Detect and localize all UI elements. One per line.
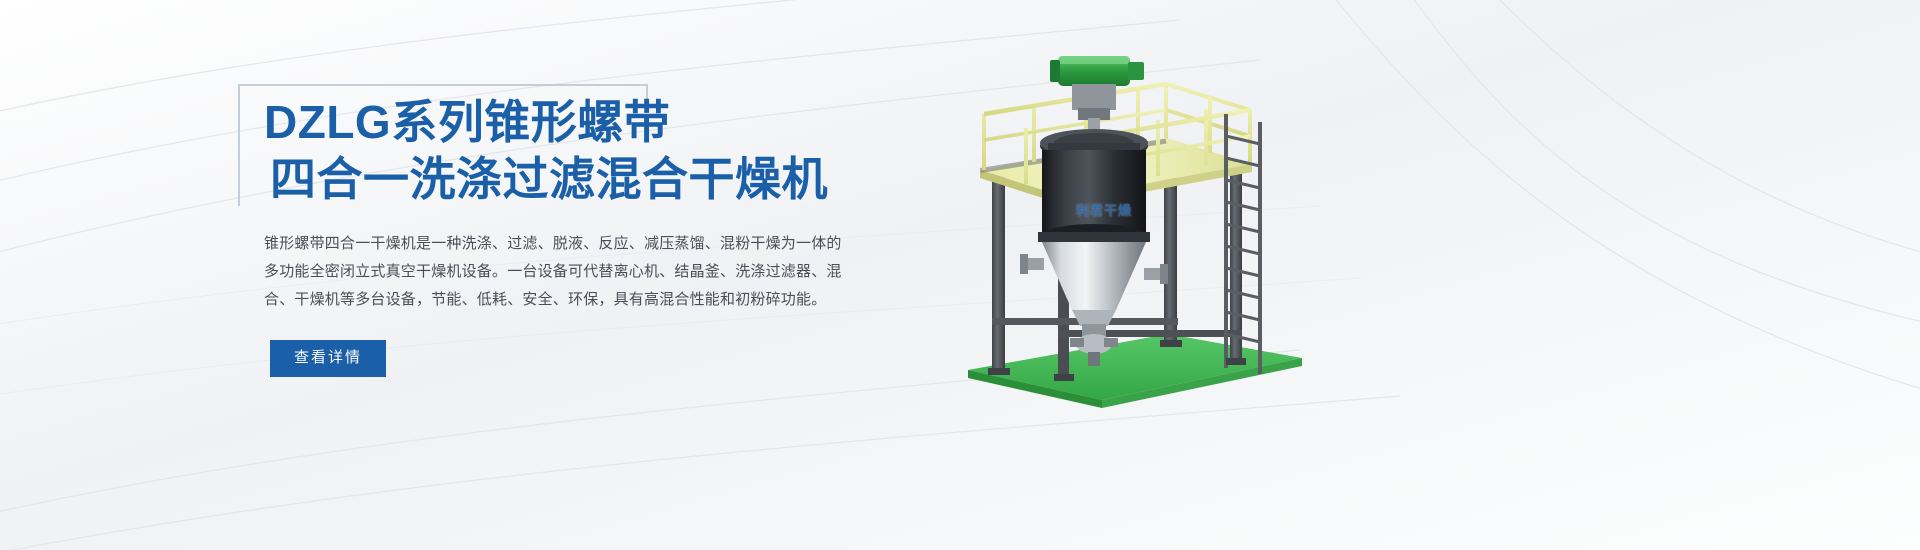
headline-line-1: DZLG系列锥形螺带 xyxy=(264,94,896,151)
hero-text-block: DZLG系列锥形螺带 四合一洗涤过滤混合干燥机 锥形螺带四合一干燥机是一种洗涤、… xyxy=(256,88,896,377)
description-line-1: 锥形螺带四合一干燥机是一种洗涤、过滤、脱液、反应、减压蒸馏、混粉干燥为一体的 xyxy=(264,230,864,258)
gearbox xyxy=(1072,84,1116,110)
page-title: DZLG系列锥形螺带 四合一洗涤过滤混合干燥机 xyxy=(256,88,896,208)
description-line-3: 合、干燥机等多台设备，节能、低耗、安全、环保，具有高混合性能和初粉碎功能。 xyxy=(264,286,864,314)
green-floor-platform xyxy=(968,334,1302,408)
hero-banner: DZLG系列锥形螺带 四合一洗涤过滤混合干燥机 锥形螺带四合一干燥机是一种洗涤、… xyxy=(0,0,1920,550)
view-details-button[interactable]: 查看详情 xyxy=(270,340,386,377)
headline-line-2: 四合一洗涤过滤混合干燥机 xyxy=(264,151,896,208)
description-line-2: 多功能全密闭立式真空干燥机设备。一台设备可代替离心机、结晶釜、洗涤过滤器、混 xyxy=(264,258,864,286)
product-illustration: 利君干燥 xyxy=(930,18,1350,418)
conical-vessel xyxy=(1020,150,1168,326)
hero-description: 锥形螺带四合一干燥机是一种洗涤、过滤、脱液、反应、减压蒸馏、混粉干燥为一体的 多… xyxy=(264,230,864,314)
